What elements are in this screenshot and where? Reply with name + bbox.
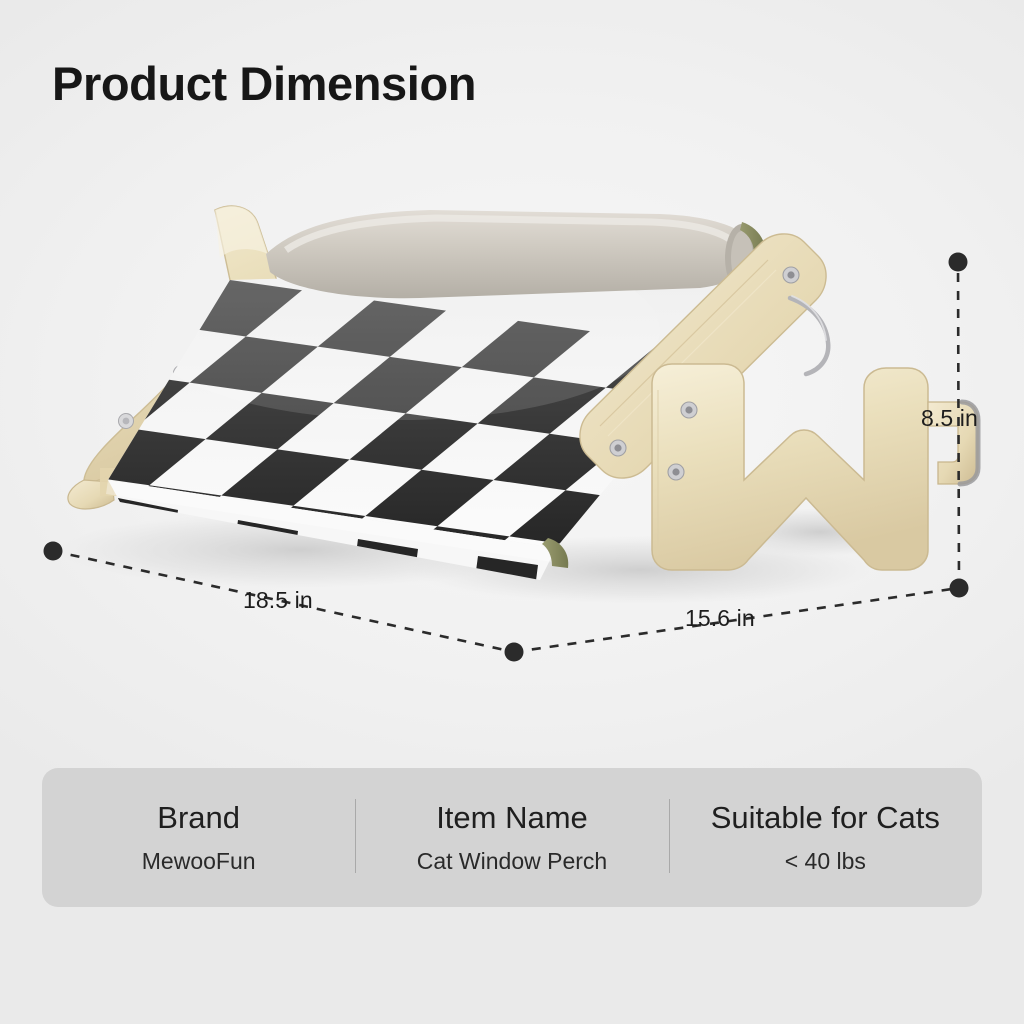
product-image <box>0 150 1024 620</box>
info-value-item-name: Cat Window Perch <box>417 848 607 875</box>
info-column-item-name: Item Name Cat Window Perch <box>355 768 668 907</box>
dimension-endpoint-bottom <box>505 643 524 662</box>
product-info-bar: Brand MewooFun Item Name Cat Window Perc… <box>42 768 982 907</box>
info-heading-brand: Brand <box>157 800 240 836</box>
info-value-brand: MewooFun <box>142 848 256 875</box>
infographic-canvas: Product Dimension <box>0 0 1024 1024</box>
page-title: Product Dimension <box>52 56 476 111</box>
dimension-label-width: 18.5 in <box>243 587 313 614</box>
info-heading-item-name: Item Name <box>436 800 588 836</box>
dimension-label-height: 8.5 in <box>921 405 978 432</box>
info-value-suitable-for-cats: < 40 lbs <box>785 848 866 875</box>
info-column-brand: Brand MewooFun <box>42 768 355 907</box>
dimension-label-depth: 15.6 in <box>685 605 755 632</box>
info-column-suitable-for-cats: Suitable for Cats < 40 lbs <box>669 768 982 907</box>
info-heading-suitable-for-cats: Suitable for Cats <box>711 800 940 836</box>
